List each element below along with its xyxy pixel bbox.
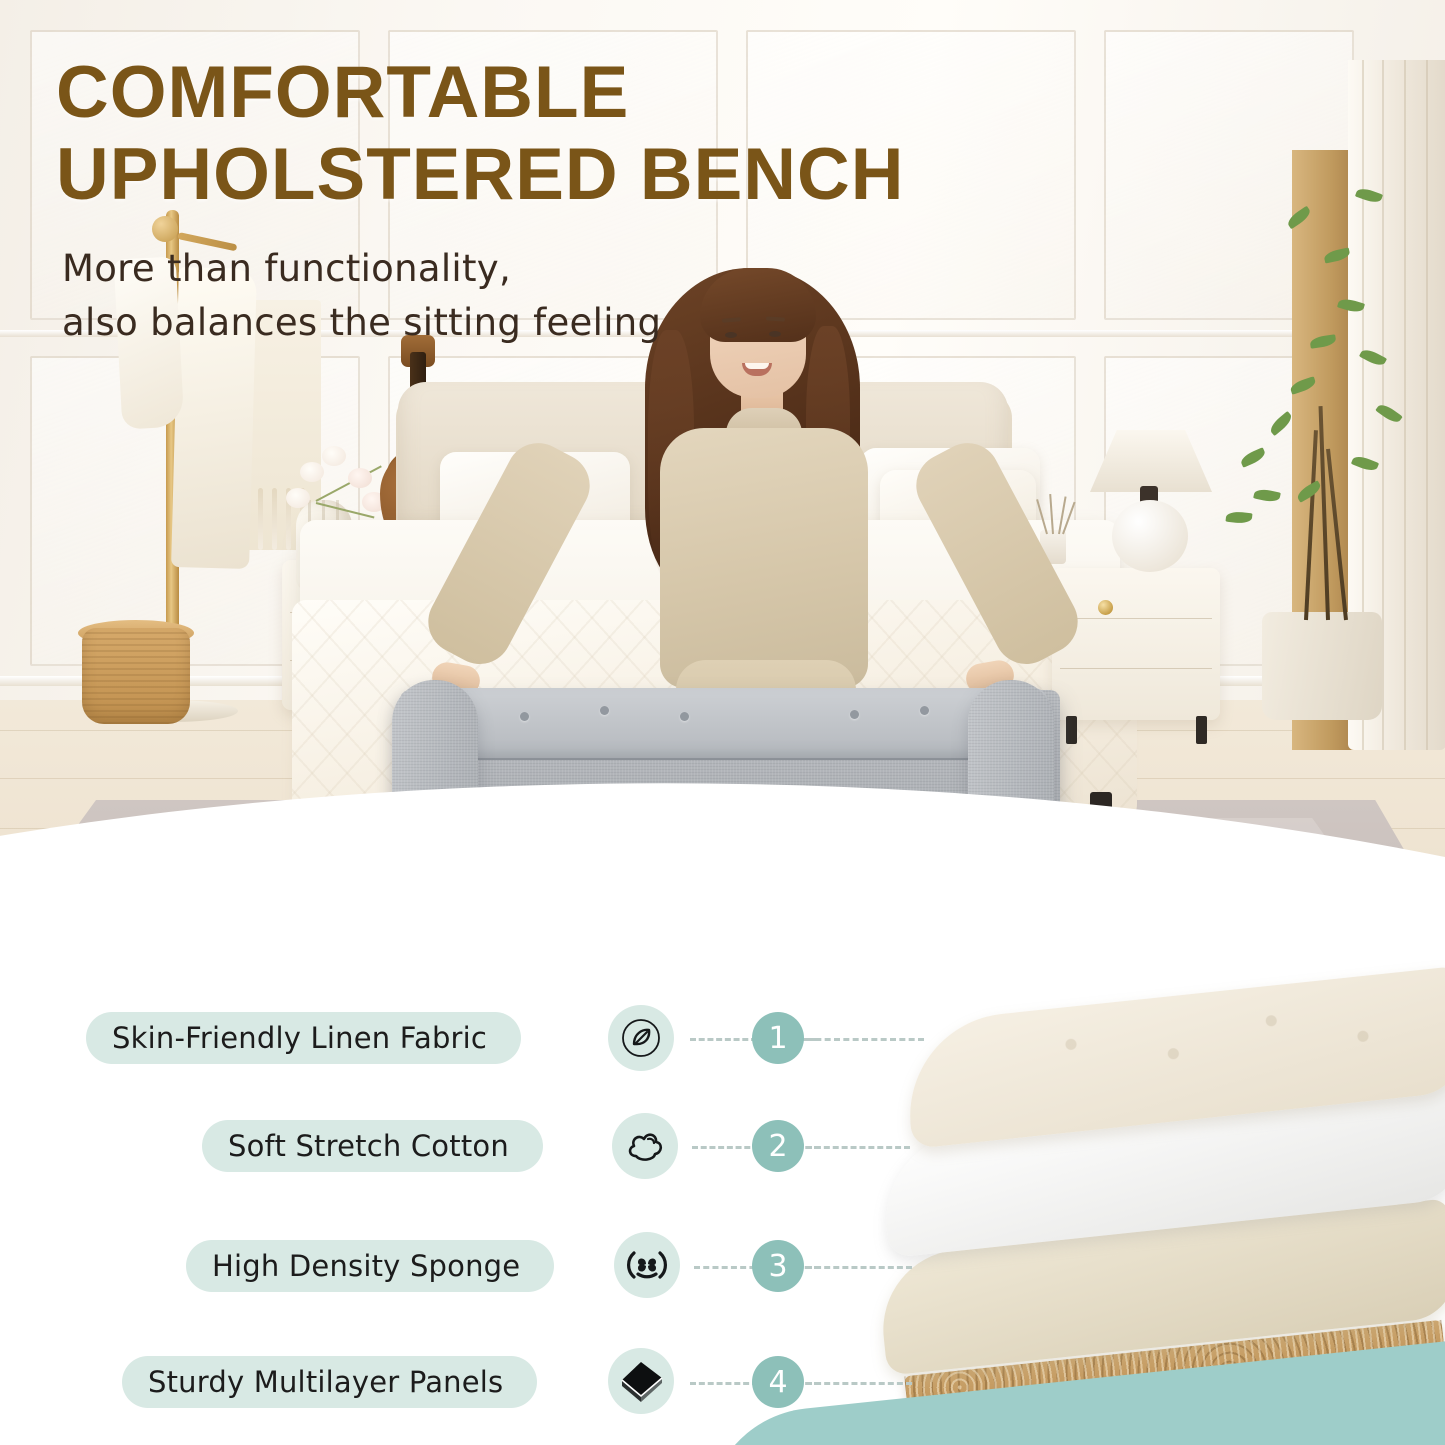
plant-pot	[1262, 612, 1382, 720]
connector-line	[806, 1382, 912, 1385]
coat-rack-peg	[152, 216, 178, 242]
orchid-bloom	[348, 468, 372, 488]
bench-tuft	[680, 712, 689, 721]
orchid-bloom	[286, 488, 310, 508]
orchid-bloom	[322, 446, 346, 466]
subheadline-line-2: also balances the sitting feeling	[62, 296, 661, 350]
connector-line	[806, 1146, 910, 1149]
orchid-bloom	[300, 462, 324, 482]
bench-tuft	[520, 712, 529, 721]
bench-tuft	[920, 706, 929, 715]
bench-tuft	[850, 710, 859, 719]
cloud-icon	[612, 1113, 678, 1179]
feature-pill[interactable]: Soft Stretch Cotton	[202, 1120, 543, 1172]
subheadline-line-1: More than functionality,	[62, 242, 661, 296]
feature-pill[interactable]: High Density Sponge	[186, 1240, 554, 1292]
bench-lid-seam	[414, 758, 1046, 760]
feature-row[interactable]: High Density Sponge	[0, 1216, 900, 1324]
feature-label: High Density Sponge	[212, 1249, 520, 1283]
headline-line-2: UPHOLSTERED BENCH	[56, 134, 1116, 216]
feature-number-badge: 2	[752, 1120, 804, 1172]
subheadline: More than functionality, also balances t…	[62, 242, 661, 350]
bench-tuft	[600, 706, 609, 715]
sweater-torso	[660, 428, 868, 688]
feature-label: Skin-Friendly Linen Fabric	[112, 1021, 487, 1055]
nightstand-right	[1052, 568, 1220, 720]
feature-number-badge: 1	[752, 1012, 804, 1064]
feature-pill[interactable]: Sturdy Multilayer Panels	[122, 1356, 537, 1408]
headline: COMFORTABLE UPHOLSTERED BENCH	[56, 52, 1116, 216]
eye	[769, 331, 781, 337]
product-infographic: COMFORTABLE UPHOLSTERED BENCH More than …	[0, 0, 1445, 1445]
feature-number-badge: 3	[752, 1240, 804, 1292]
woven-basket	[82, 628, 190, 724]
feature-row[interactable]: Soft Stretch Cotton 2	[0, 1108, 900, 1216]
leaf-icon	[608, 1005, 674, 1071]
hair-front	[700, 268, 816, 342]
nightstand-leg	[1066, 716, 1077, 744]
feature-label: Sturdy Multilayer Panels	[148, 1365, 503, 1399]
bench-seat-cushion	[412, 688, 1048, 760]
feature-row[interactable]: Sturdy Multilayer Panels 4	[0, 1324, 900, 1432]
panel-icon	[608, 1348, 674, 1414]
sponge-icon	[614, 1232, 680, 1298]
lamp-base	[1112, 500, 1188, 572]
headline-line-1: COMFORTABLE	[56, 52, 1116, 134]
eye	[725, 332, 737, 338]
feature-row[interactable]: Skin-Friendly Linen Fabric 1	[0, 1000, 900, 1108]
feature-list: Skin-Friendly Linen Fabric 1	[0, 1000, 900, 1432]
feature-label: Soft Stretch Cotton	[228, 1129, 509, 1163]
connector-line	[806, 1038, 924, 1041]
drawer-knob	[1098, 600, 1113, 615]
nightstand-leg	[1196, 716, 1207, 744]
connector-line	[806, 1266, 912, 1269]
feature-pill[interactable]: Skin-Friendly Linen Fabric	[86, 1012, 521, 1064]
feature-number-badge: 4	[752, 1356, 804, 1408]
